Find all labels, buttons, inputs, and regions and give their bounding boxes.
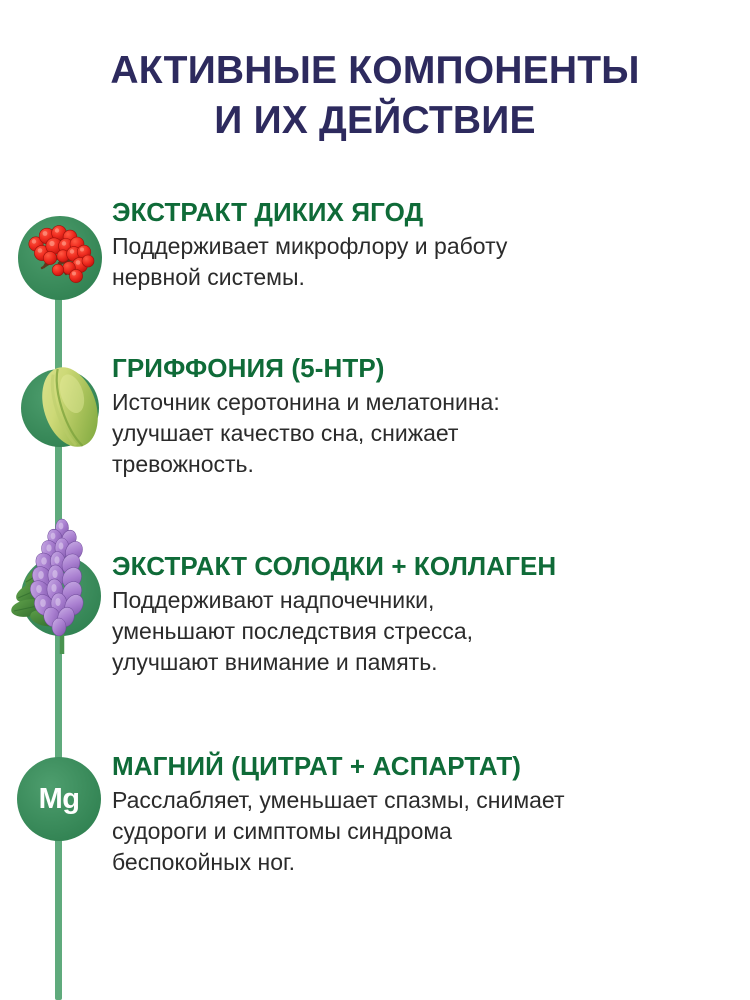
list-item-heading: ЭКСТРАКТ СОЛОДКИ + КОЛЛАГЕН — [112, 550, 742, 582]
page-title-line-1: АКТИВНЫЕ КОМПОНЕНТЫ — [0, 46, 750, 96]
griffonia-seed-icon — [18, 355, 114, 460]
licorice-flower-icon — [6, 518, 118, 654]
magnesium-badge-icon: Mg — [16, 756, 102, 842]
list-item-description: Поддерживают надпочечники, уменьшают пос… — [112, 585, 742, 678]
list-item-text: ЭКСТРАКТ ДИКИХ ЯГОД Поддерживает микрофл… — [112, 196, 742, 293]
list-item-text: ГРИФФОНИЯ (5-HTP) Источник серотонина и … — [112, 352, 742, 480]
list-item-heading: ГРИФФОНИЯ (5-HTP) — [112, 352, 742, 384]
wild-berries-icon — [14, 208, 106, 308]
page-title: АКТИВНЫЕ КОМПОНЕНТЫ И ИХ ДЕЙСТВИЕ — [0, 46, 750, 146]
page-title-line-2: И ИХ ДЕЙСТВИЕ — [0, 96, 750, 146]
list-item-text: ЭКСТРАКТ СОЛОДКИ + КОЛЛАГЕН Поддерживают… — [112, 550, 742, 678]
list-item-description: Расслабляет, уменьшает спазмы, снимает с… — [112, 785, 742, 878]
list-item-text: МАГНИЙ (ЦИТРАТ + АСПАРТАТ) Расслабляет, … — [112, 750, 742, 878]
list-item-heading: ЭКСТРАКТ ДИКИХ ЯГОД — [112, 196, 742, 228]
infographic-root: АКТИВНЫЕ КОМПОНЕНТЫ И ИХ ДЕЙСТВИЕ ЭКСТРА… — [0, 0, 750, 1000]
list-item-description: Источник серотонина и мелатонина: улучша… — [112, 387, 742, 480]
list-item-heading: МАГНИЙ (ЦИТРАТ + АСПАРТАТ) — [112, 750, 742, 782]
list-item-description: Поддерживает микрофлору и работу нервной… — [112, 231, 742, 293]
